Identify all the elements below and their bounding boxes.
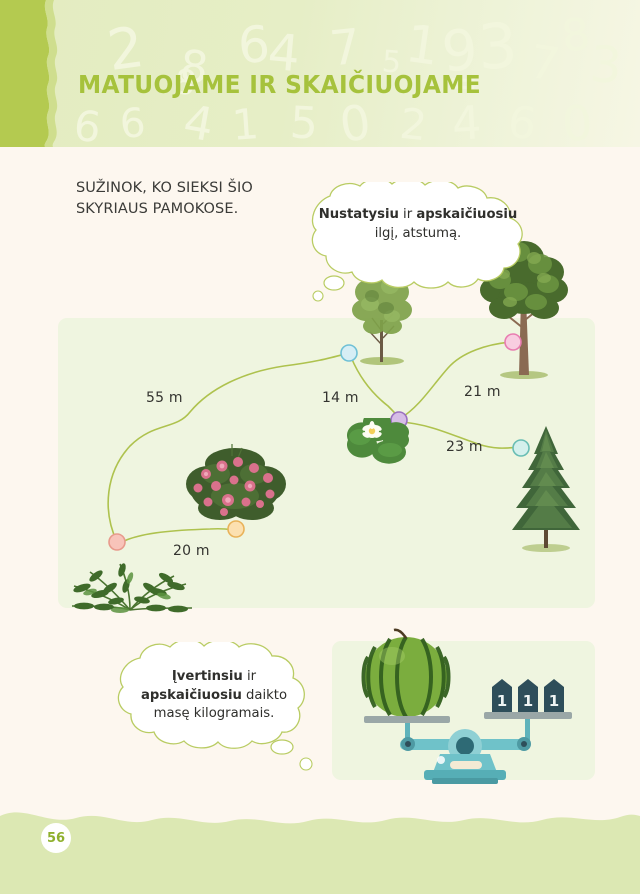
decor-number: 6 <box>72 105 104 147</box>
decor-number: 6 <box>505 100 539 147</box>
path-21m <box>401 342 511 418</box>
distance-label-21m: 21 m <box>464 384 501 400</box>
svg-text:1: 1 <box>497 692 507 710</box>
intro-text: SUŽINOK, KO SIEKSI ŠIO SKYRIAUS PAMOKOSE… <box>76 178 311 220</box>
bubble-text-length-distance: Nustatysiu ir apskaičiuosiu ilgį, atstum… <box>304 206 532 243</box>
weight-1: 1 <box>492 679 512 712</box>
svg-text:1: 1 <box>549 692 559 710</box>
water-lily <box>342 418 414 466</box>
watermelon-stem <box>394 630 406 638</box>
node-magenta[interactable] <box>505 334 521 350</box>
decor-number: 7 <box>527 38 563 88</box>
right-pan <box>484 712 572 719</box>
distance-label-55m: 55 m <box>146 390 183 406</box>
weight-3: 1 <box>544 679 564 712</box>
distance-label-23m: 23 m <box>446 439 483 455</box>
balance-scale-illustration: 1 1 1 <box>332 620 595 785</box>
decor-number: 5 <box>289 101 319 146</box>
decor-number: 8 <box>559 12 592 59</box>
decor-number: 7 <box>328 23 363 74</box>
decor-number: 1 <box>403 18 443 74</box>
decor-number: 0 <box>560 99 595 147</box>
watermelon <box>364 630 449 717</box>
path-14m <box>351 357 399 420</box>
left-pan <box>364 716 450 723</box>
page-header: 2 8 6 8 4 7 5 1 9 = 3 7 8 3 6 6 4 1 5 0 … <box>0 0 640 147</box>
decor-number: 3 <box>476 15 519 79</box>
page-number: 56 <box>41 823 71 853</box>
bubble1-line1: Nustatysiu ir apskaičiuosiu <box>319 207 518 222</box>
decor-number: 4 <box>451 99 483 146</box>
decor-number: 0 <box>337 98 374 147</box>
decor-number: 1 <box>231 103 261 147</box>
fern <box>60 548 200 620</box>
bubble-text-mass-kilograms: Įvertinsiu ir apskaičiuosiu daikto masę … <box>114 668 314 724</box>
spruce-tree <box>506 424 586 554</box>
bubble2-line2: apskaičiuosiu daikto <box>141 688 287 703</box>
textbook-page: 2 8 6 8 4 7 5 1 9 = 3 7 8 3 6 6 4 1 5 0 … <box>0 0 640 894</box>
speech-bubble-mass-kilograms: Įvertinsiu ir apskaičiuosiu daikto masę … <box>92 642 342 777</box>
bubble1-line2: ilgį, atstumą. <box>375 226 462 241</box>
decor-number: 3 <box>588 39 623 91</box>
page-footer <box>0 794 640 894</box>
decor-number: 4 <box>180 98 217 147</box>
page-title: MATUOJAME IR SKAIČIUOJAME <box>78 70 481 99</box>
speech-bubble-length-distance: Nustatysiu ir apskaičiuosiu ilgį, atstum… <box>284 182 552 302</box>
rose-bush <box>180 440 290 525</box>
node-lightblue[interactable] <box>341 345 357 361</box>
scale-plate <box>450 761 482 769</box>
svg-text:1: 1 <box>523 692 533 710</box>
decor-number: 2 <box>398 103 429 147</box>
header-left-band <box>0 0 62 147</box>
path-20m <box>120 529 235 543</box>
distance-label-14m: 14 m <box>322 390 359 406</box>
weight-2: 1 <box>518 679 538 712</box>
bubble2-line3: masę kilogramais. <box>154 706 275 721</box>
decor-number: 6 <box>118 103 147 145</box>
bubble2-line1: Įvertinsiu ir <box>172 669 256 684</box>
weights-group: 1 1 1 <box>492 679 564 712</box>
